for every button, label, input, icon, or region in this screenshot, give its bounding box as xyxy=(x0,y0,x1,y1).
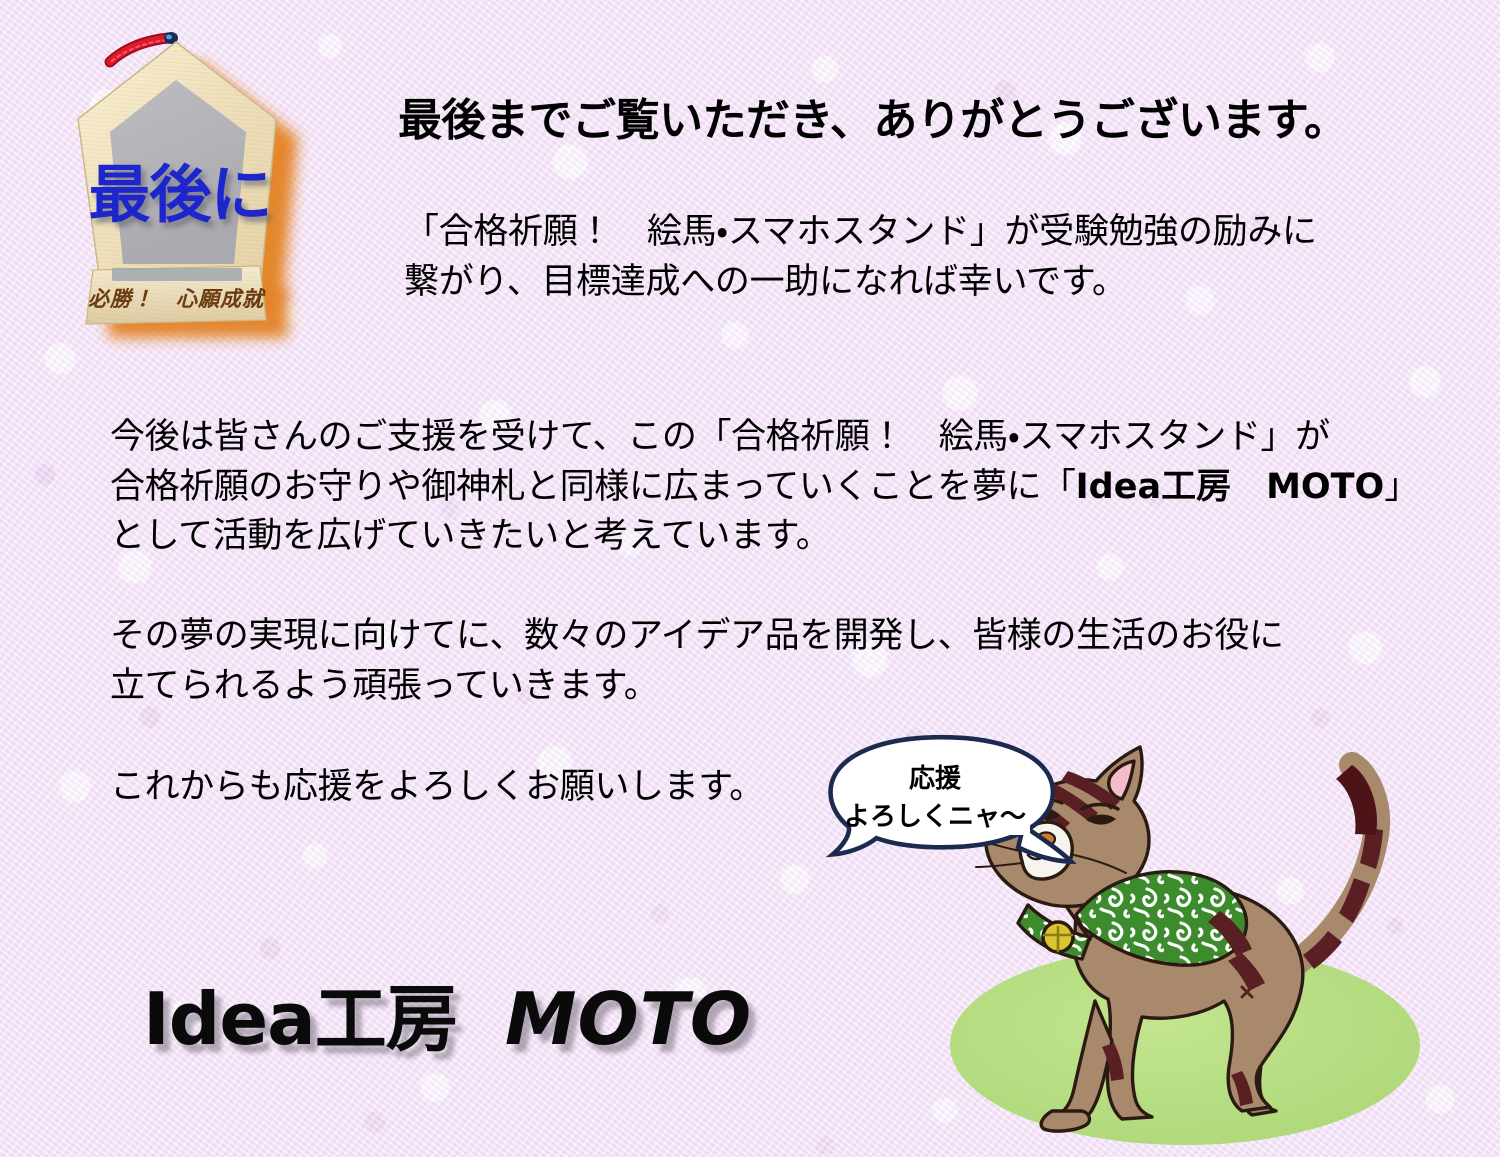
para2-line-2-before: 合格祈願のお守りや御神札と同様に広まっていくことを夢に「 xyxy=(110,467,1076,507)
para2-line-2-after: 」 xyxy=(1384,467,1419,507)
ema-base-stand: 必勝！ 心願成就 xyxy=(86,266,266,324)
brand-logo: Idea工房 MOTO xyxy=(143,960,752,1065)
speech-bubble: 応援 よろしくニャ～ xyxy=(831,737,1072,861)
bubble-line-2: よろしくニャ～ xyxy=(844,802,1026,832)
cat-front-paw xyxy=(1041,1111,1089,1131)
para1-line-2: 繋がり、目標達成への一助になれば幸いです。 xyxy=(404,262,1127,302)
ema-base-text: 必勝！ 心願成就 xyxy=(88,286,266,311)
brand-logo-moto: MOTO xyxy=(505,977,752,1061)
para2-line-3: として活動を広げていきたいと考えています。 xyxy=(110,516,830,556)
bubble-line-1: 応援 xyxy=(909,764,962,794)
brand-logo-spacer xyxy=(457,977,505,1061)
brand-logo-idea-kobo: Idea工房 xyxy=(143,977,457,1061)
para3-line-1: その夢の実現に向けてに、数々のアイデア品を開発し、皆様の生活のお役に xyxy=(110,616,1284,656)
para3-line-2: 立てられるよう頑張っていきます。 xyxy=(110,666,658,706)
brand-name-inline: Idea工房 MOTO xyxy=(1076,467,1385,507)
cat-mascot-illustration: 応援 よろしくニャ～ xyxy=(790,715,1490,1145)
paragraph-thanks: 「合格祈願！ 絵馬・スマホスタンド」が受験勉強の励みに 繋がり、目標達成への一助… xyxy=(404,208,1317,307)
paragraph-goal: その夢の実現に向けてに、数々のアイデア品を開発し、皆様の生活のお役に 立てられる… xyxy=(110,612,1284,711)
para1-line-1: 「合格祈願！ 絵馬・スマホスタンド」が受験勉強の励みに xyxy=(404,212,1317,252)
para4-line-1: これからも応援をよろしくお願いします。 xyxy=(110,767,764,807)
paragraph-vision: 今後は皆さんのご支援を受けて、この「合格祈願！ 絵馬・スマホスタンド」が 合格祈… xyxy=(110,413,1419,562)
ema-title-text: 最後に xyxy=(88,158,271,231)
heading-line-1: 最後までご覧いただき、ありがとうございます。 xyxy=(398,95,1348,146)
paragraph-closing: これからも応援をよろしくお願いします。 xyxy=(110,763,764,813)
ema-plaque-illustration: 最後に 必勝！ 心願成就 xyxy=(8,14,353,364)
page-heading: 最後までご覧いただき、ありがとうございます。 xyxy=(398,97,1348,145)
slide-page: 最後に 必勝！ 心願成就 最後までご覧いただき、ありがとうございます。 「合格祈… xyxy=(0,0,1500,1157)
para2-line-1: 今後は皆さんのご支援を受けて、この「合格祈願！ 絵馬・スマホスタンド」が xyxy=(110,417,1330,457)
